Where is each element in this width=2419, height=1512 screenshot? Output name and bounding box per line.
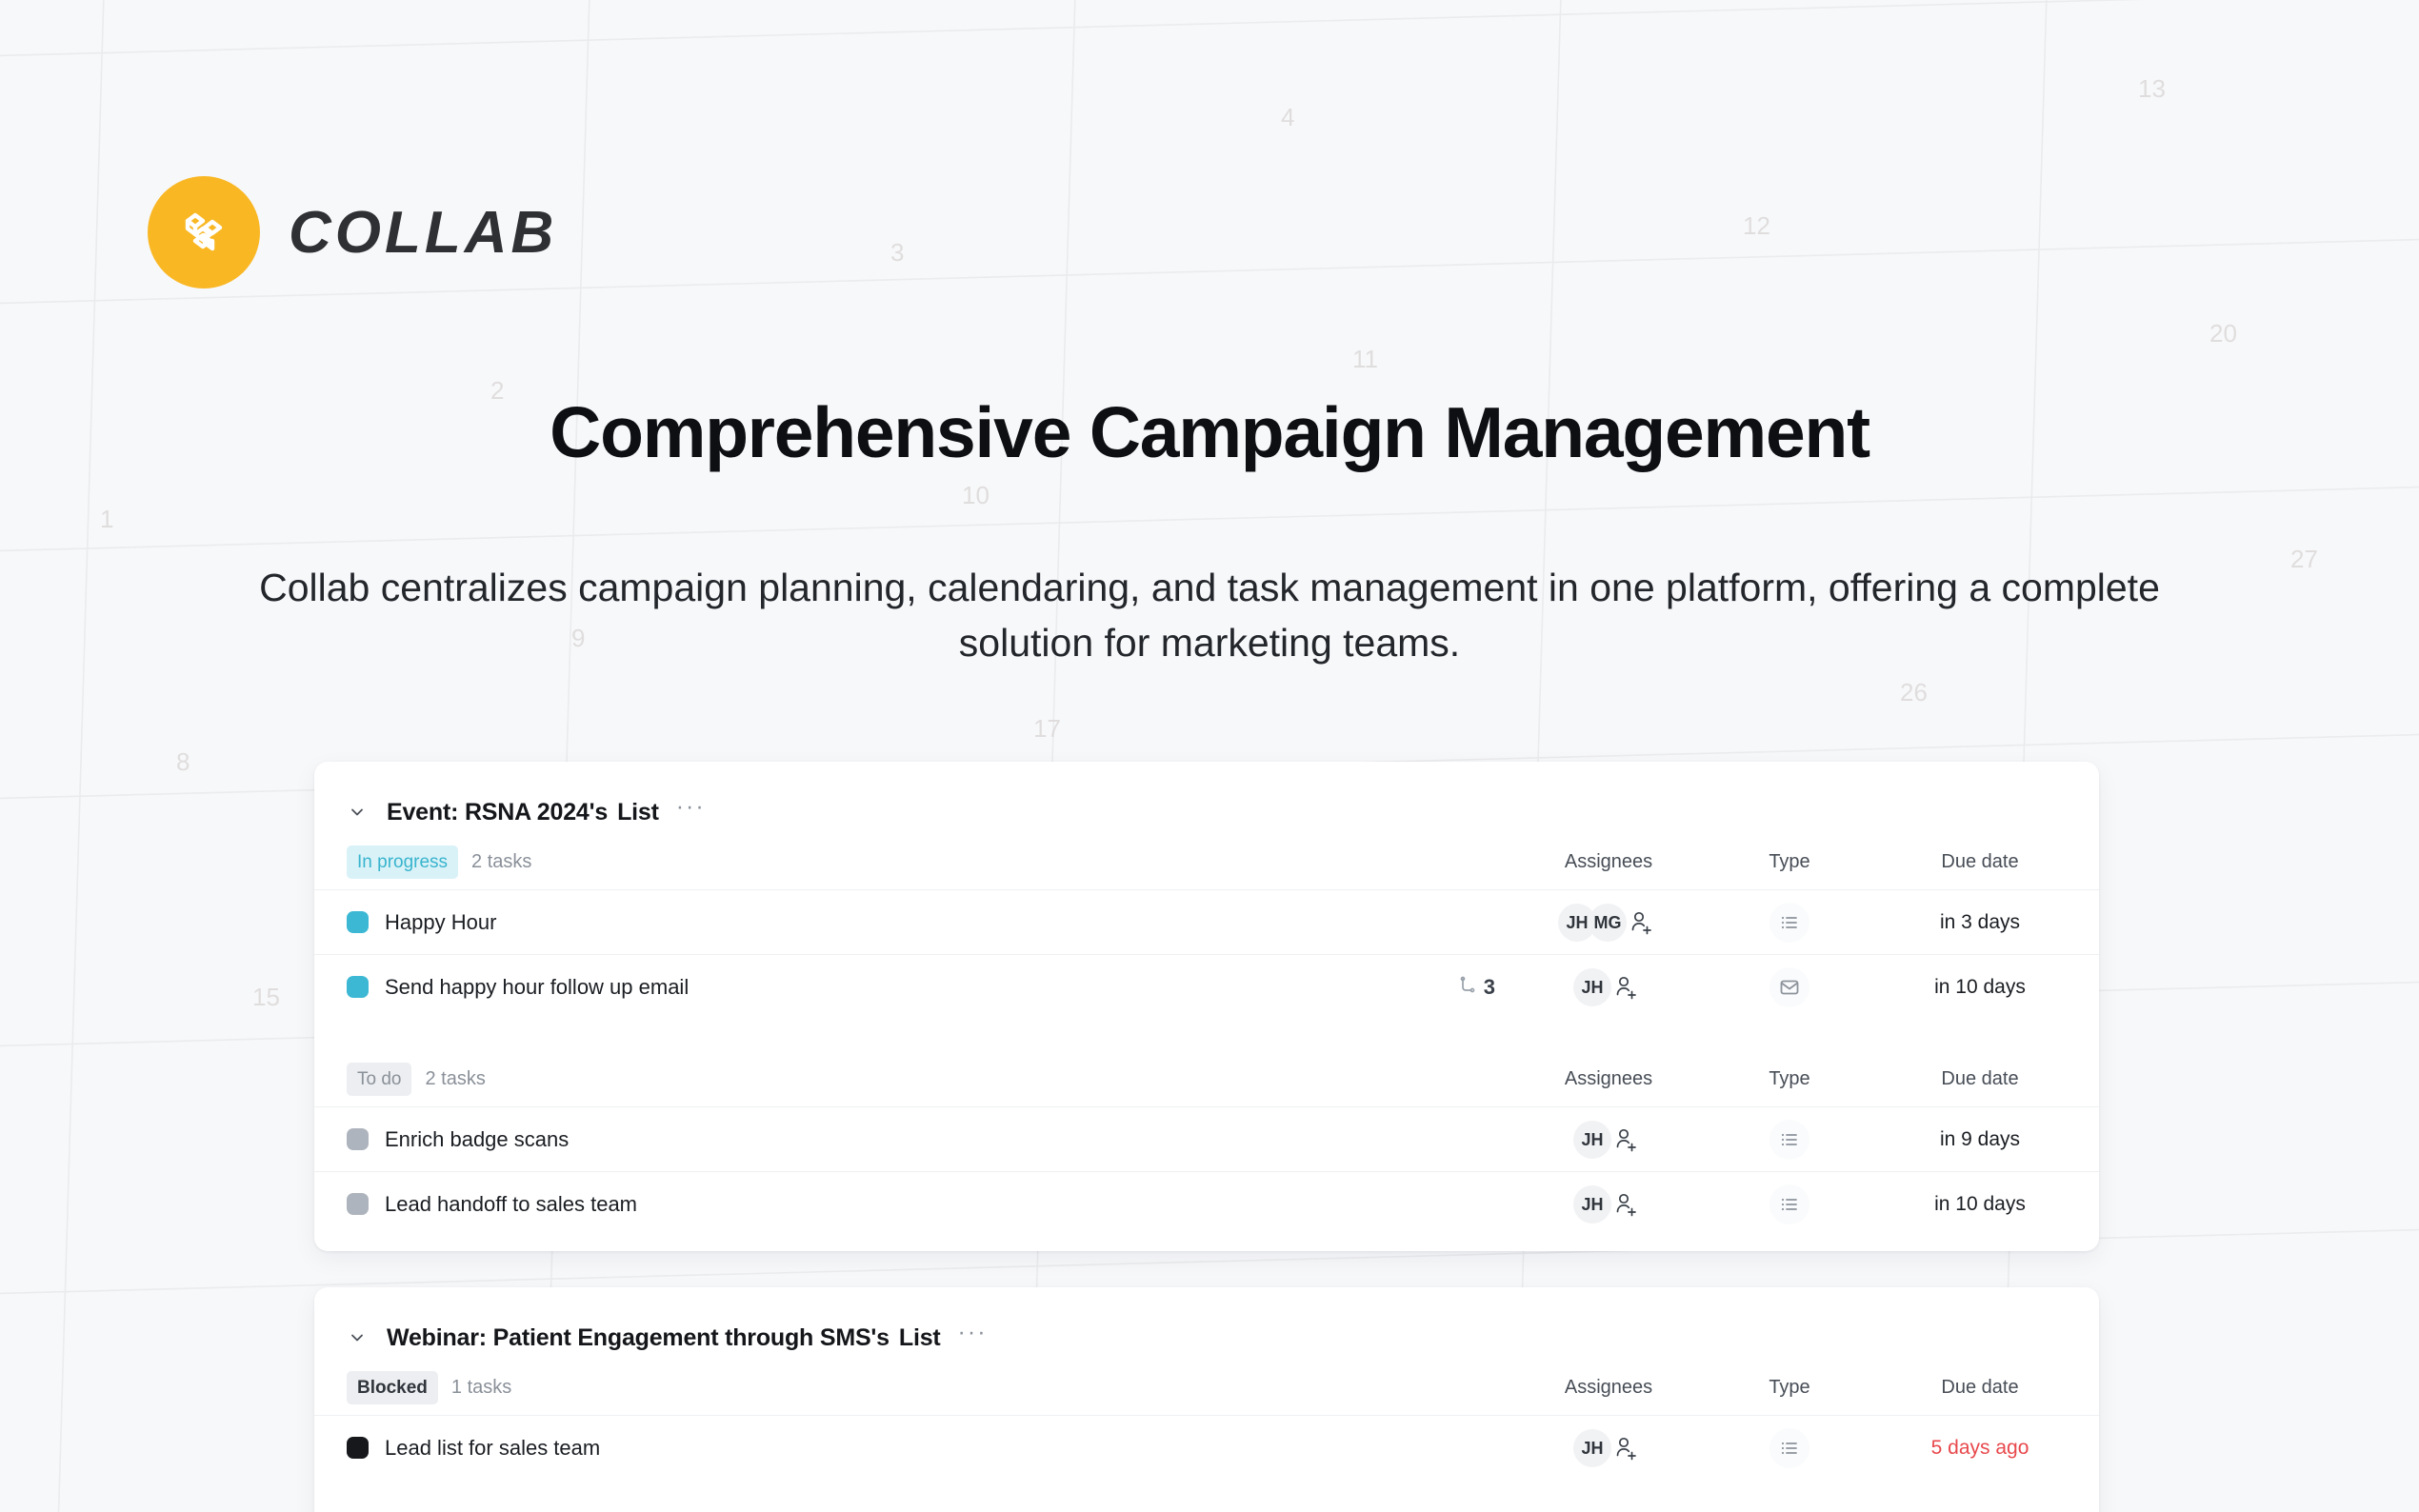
- due-date: in 10 days: [1861, 976, 2099, 999]
- page-subtitle: Collab centralizes campaign planning, ca…: [219, 560, 2200, 670]
- card-title: Webinar: Patient Engagement through SMS'…: [387, 1324, 941, 1352]
- type-cell[interactable]: [1718, 1184, 1861, 1224]
- task-name: Lead handoff to sales team: [385, 1192, 637, 1217]
- list-icon[interactable]: [1769, 1428, 1809, 1468]
- status-dot[interactable]: [347, 1437, 369, 1459]
- row-meta: JH: [1385, 1416, 2099, 1481]
- column-header-assignees: Assignees: [1499, 851, 1718, 873]
- avatar-group: JH MG: [1558, 904, 1619, 942]
- task-count: 2 tasks: [425, 1068, 485, 1090]
- type-cell[interactable]: [1718, 1428, 1861, 1468]
- row-meta: JH: [1385, 1172, 2099, 1237]
- column-header-assignees: Assignees: [1499, 1068, 1718, 1090]
- assignee-cell[interactable]: JH: [1499, 1121, 1718, 1159]
- subtask-icon: [1457, 975, 1478, 1001]
- add-person-icon[interactable]: [1608, 1430, 1644, 1466]
- chevron-down-icon[interactable]: [341, 796, 373, 828]
- status-dot[interactable]: [347, 1128, 369, 1150]
- list-card-event-rsna: Event: RSNA 2024'sList ··· In progress 2…: [314, 762, 2099, 1251]
- avatar[interactable]: JH: [1573, 1185, 1611, 1224]
- group-header-blocked: Blocked 1 tasks Assignees Type Due date: [314, 1360, 2099, 1415]
- due-date: in 3 days: [1861, 911, 2099, 934]
- ellipsis-icon[interactable]: ···: [954, 1327, 993, 1348]
- avatar[interactable]: JH: [1573, 968, 1611, 1006]
- avatar-group: JH: [1573, 968, 1604, 1006]
- assignee-cell[interactable]: JH: [1499, 1429, 1718, 1467]
- avatar[interactable]: JH: [1573, 1429, 1611, 1467]
- task-name: Enrich badge scans: [385, 1127, 569, 1152]
- group-spacer: [314, 1019, 2099, 1051]
- status-badge[interactable]: To do: [347, 1063, 411, 1096]
- avatar-group: JH: [1573, 1121, 1604, 1159]
- brand-name: COLLAB: [289, 199, 557, 267]
- status-badge[interactable]: Blocked: [347, 1371, 438, 1404]
- list-icon[interactable]: [1769, 1184, 1809, 1224]
- table-row[interactable]: Happy Hour JH MG: [314, 889, 2099, 954]
- avatar[interactable]: JH: [1573, 1121, 1611, 1159]
- table-row[interactable]: Enrich badge scans JH: [314, 1106, 2099, 1171]
- card-title-suffix: List: [617, 799, 659, 826]
- status-dot[interactable]: [347, 1193, 369, 1215]
- add-person-icon[interactable]: [1623, 905, 1659, 941]
- assignee-cell[interactable]: JH: [1499, 1185, 1718, 1224]
- stacked-layers-icon: [148, 176, 260, 288]
- column-header-type: Type: [1718, 1068, 1861, 1090]
- card-header[interactable]: Webinar: Patient Engagement through SMS'…: [314, 1287, 2099, 1360]
- list-card-webinar-sms: Webinar: Patient Engagement through SMS'…: [314, 1287, 2099, 1512]
- ellipsis-icon[interactable]: ···: [672, 802, 711, 823]
- table-row[interactable]: Send happy hour follow up email 3 JH: [314, 954, 2099, 1019]
- column-header-due-date: Due date: [1861, 1377, 2099, 1399]
- task-name: Send happy hour follow up email: [385, 975, 689, 1000]
- column-header-type: Type: [1718, 1377, 1861, 1399]
- subtask-cell: 3: [1385, 975, 1499, 1001]
- add-person-icon[interactable]: [1608, 1186, 1644, 1223]
- column-headers: Assignees Type Due date: [1499, 834, 2099, 889]
- status-dot[interactable]: [347, 911, 369, 933]
- add-person-icon[interactable]: [1608, 969, 1644, 1005]
- table-row[interactable]: Lead list for sales team JH: [314, 1415, 2099, 1480]
- table-row[interactable]: Lead handoff to sales team JH: [314, 1171, 2099, 1236]
- avatar[interactable]: MG: [1589, 904, 1627, 942]
- brand-logo[interactable]: COLLAB: [148, 176, 557, 288]
- list-icon[interactable]: [1769, 1120, 1809, 1160]
- type-cell[interactable]: [1718, 1120, 1861, 1160]
- column-header-type: Type: [1718, 851, 1861, 873]
- task-name: Lead list for sales team: [385, 1436, 600, 1461]
- assignee-cell[interactable]: JH: [1499, 968, 1718, 1006]
- status-badge[interactable]: In progress: [347, 846, 458, 879]
- row-meta: JH: [1385, 1107, 2099, 1172]
- card-header[interactable]: Event: RSNA 2024'sList ···: [314, 762, 2099, 834]
- task-count: 1 tasks: [451, 1377, 511, 1399]
- task-count: 2 tasks: [471, 851, 531, 873]
- page-title: Comprehensive Campaign Management: [0, 392, 2419, 472]
- row-meta: JH MG: [1385, 890, 2099, 955]
- card-title: Event: RSNA 2024'sList: [387, 799, 659, 826]
- due-date: 5 days ago: [1861, 1437, 2099, 1460]
- row-meta: 3 JH: [1385, 955, 2099, 1020]
- status-dot[interactable]: [347, 976, 369, 998]
- task-name: Happy Hour: [385, 910, 496, 935]
- email-icon[interactable]: [1769, 967, 1809, 1007]
- assignee-cell[interactable]: JH MG: [1499, 904, 1718, 942]
- due-date: in 9 days: [1861, 1128, 2099, 1151]
- due-date: in 10 days: [1861, 1193, 2099, 1216]
- group-header-to-do: To do 2 tasks Assignees Type Due date: [314, 1051, 2099, 1106]
- type-cell[interactable]: [1718, 903, 1861, 943]
- column-header-due-date: Due date: [1861, 1068, 2099, 1090]
- column-headers: Assignees Type Due date: [1499, 1360, 2099, 1415]
- list-icon[interactable]: [1769, 903, 1809, 943]
- column-headers: Assignees Type Due date: [1499, 1051, 2099, 1106]
- subtask-count: 3: [1484, 975, 1495, 1000]
- type-cell[interactable]: [1718, 967, 1861, 1007]
- add-person-icon[interactable]: [1608, 1122, 1644, 1158]
- column-header-due-date: Due date: [1861, 851, 2099, 873]
- card-title-suffix: List: [899, 1324, 941, 1351]
- card-title-text: Event: RSNA 2024's: [387, 799, 608, 826]
- avatar-group: JH: [1573, 1429, 1604, 1467]
- card-title-text: Webinar: Patient Engagement through SMS'…: [387, 1324, 890, 1351]
- chevron-down-icon[interactable]: [341, 1322, 373, 1354]
- avatar-group: JH: [1573, 1185, 1604, 1224]
- group-header-in-progress: In progress 2 tasks Assignees Type Due d…: [314, 834, 2099, 889]
- column-header-assignees: Assignees: [1499, 1377, 1718, 1399]
